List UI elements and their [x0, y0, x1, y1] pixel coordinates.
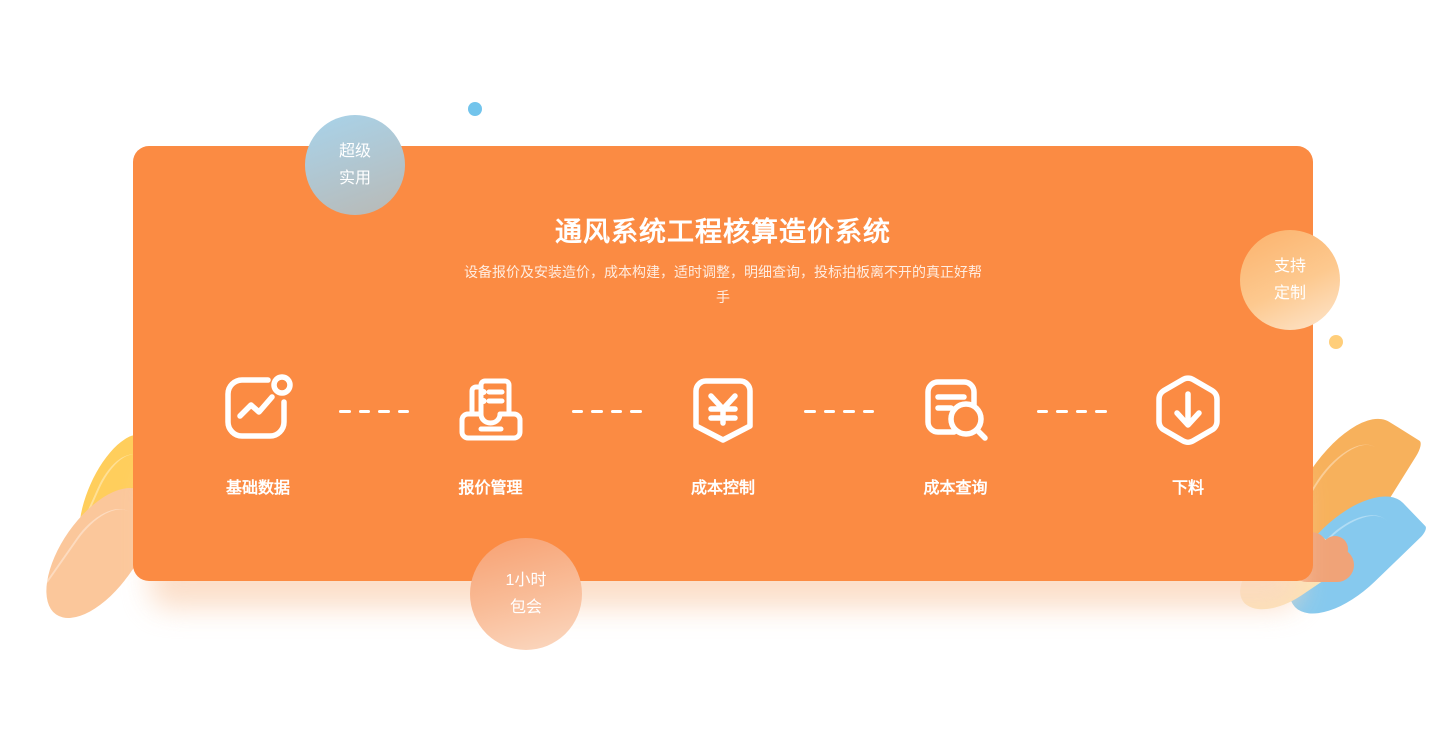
yuan-tag-icon [681, 368, 765, 452]
connector-dashes [572, 410, 642, 413]
feature-item-cost-control[interactable]: 成本控制 [658, 368, 788, 498]
page-subtitle: 设备报价及安装造价，成本构建，适时调整，明细查询，投标拍板离不开的真正好帮手 [463, 260, 983, 310]
connector-dash [1076, 410, 1088, 413]
connector-dash [378, 410, 390, 413]
connector-dashes [339, 410, 409, 413]
badge-line-2: 包会 [510, 594, 542, 621]
feature-label: 基础数据 [226, 474, 290, 498]
connector-dash [359, 410, 371, 413]
feature-label: 报价管理 [458, 474, 522, 498]
badge-support-customization: 支持 定制 [1240, 230, 1340, 330]
dot-blue-small-icon [468, 102, 482, 116]
connector-dash [572, 410, 584, 413]
feature-list: 基础数据 报价管理 [193, 368, 1253, 498]
feature-item-quotation-management[interactable]: 报价管理 [426, 368, 556, 498]
dot-amber-icon [1329, 335, 1343, 349]
chart-square-icon [216, 368, 300, 452]
badge-line-1: 超级 [339, 138, 371, 165]
connector-dash [1037, 410, 1049, 413]
feature-label: 成本控制 [691, 474, 755, 498]
connector-dash [398, 410, 410, 413]
connector-dashes [804, 410, 874, 413]
connector-dash [1095, 410, 1107, 413]
page-title: 通风系统工程核算造价系统 [133, 210, 1313, 249]
connector-dashes [1037, 410, 1107, 413]
connector-dash [339, 410, 351, 413]
feature-item-cost-query[interactable]: 成本查询 [891, 368, 1021, 498]
badge-line-1: 支持 [1274, 253, 1306, 280]
promo-banner: 通风系统工程核算造价系统 设备报价及安装造价，成本构建，适时调整，明细查询，投标… [0, 0, 1440, 730]
feature-panel: 通风系统工程核算造价系统 设备报价及安装造价，成本构建，适时调整，明细查询，投标… [133, 146, 1313, 581]
connector-dash [804, 410, 816, 413]
connector-dash [843, 410, 855, 413]
badge-super-useful: 超级 实用 [305, 115, 405, 215]
feature-label: 下料 [1172, 474, 1204, 498]
badge-one-hour-training: 1小时 包会 [470, 538, 582, 650]
feature-label: 成本查询 [923, 474, 987, 498]
connector-dash [591, 410, 603, 413]
connector-dash [630, 410, 642, 413]
connector-dash [1056, 410, 1068, 413]
feature-item-material-cutting[interactable]: 下料 [1123, 368, 1253, 498]
document-search-icon [914, 368, 998, 452]
badge-line-2: 实用 [339, 165, 371, 192]
badge-line-1: 1小时 [506, 567, 547, 594]
connector-dash [611, 410, 623, 413]
badge-line-2: 定制 [1274, 280, 1306, 307]
connector-dash [824, 410, 836, 413]
connector-dash [863, 410, 875, 413]
inbox-document-icon [449, 368, 533, 452]
hexagon-download-icon [1146, 368, 1230, 452]
feature-item-basic-data[interactable]: 基础数据 [193, 368, 323, 498]
